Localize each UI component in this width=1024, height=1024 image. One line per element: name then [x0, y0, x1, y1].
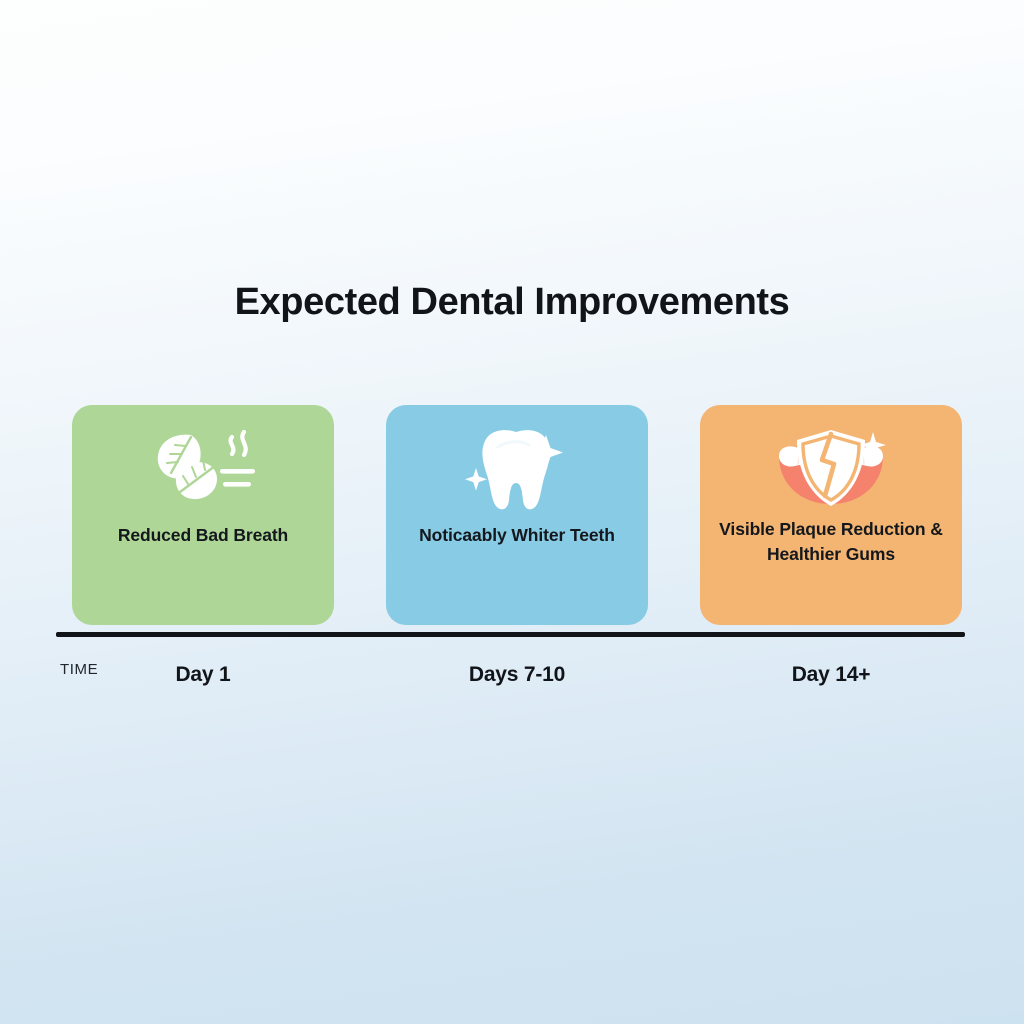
page-title: Expected Dental Improvements: [0, 281, 1024, 324]
milestone-card-label: Visible Plaque Reduction & Healthier Gum…: [716, 517, 946, 568]
milestone-card-label: Reduced Bad Breath: [88, 523, 318, 548]
timeline-tick-day-1: Day 1: [72, 663, 334, 687]
milestone-card-days-7-10: Noticaably Whiter Teeth: [386, 405, 648, 625]
milestone-cards: Reduced Bad Breath Noticaably Whiter Tee…: [72, 405, 962, 625]
timeline-tick-day-14-plus: Day 14+: [700, 663, 962, 687]
shield-gums-icon: [771, 427, 891, 513]
mint-leaf-breath-icon: [143, 427, 263, 513]
timeline-axis-line: [56, 632, 965, 637]
timeline-tick-days-7-10: Days 7-10: [386, 663, 648, 687]
dental-improvements-infographic: Expected Dental Improvements: [0, 0, 1024, 1024]
timeline-tick-labels: Day 1 Days 7-10 Day 14+: [72, 663, 962, 687]
milestone-card-label: Noticaably Whiter Teeth: [402, 523, 632, 548]
milestone-card-day-1: Reduced Bad Breath: [72, 405, 334, 625]
sparkling-tooth-icon: [457, 427, 577, 513]
milestone-card-day-14-plus: Visible Plaque Reduction & Healthier Gum…: [700, 405, 962, 625]
